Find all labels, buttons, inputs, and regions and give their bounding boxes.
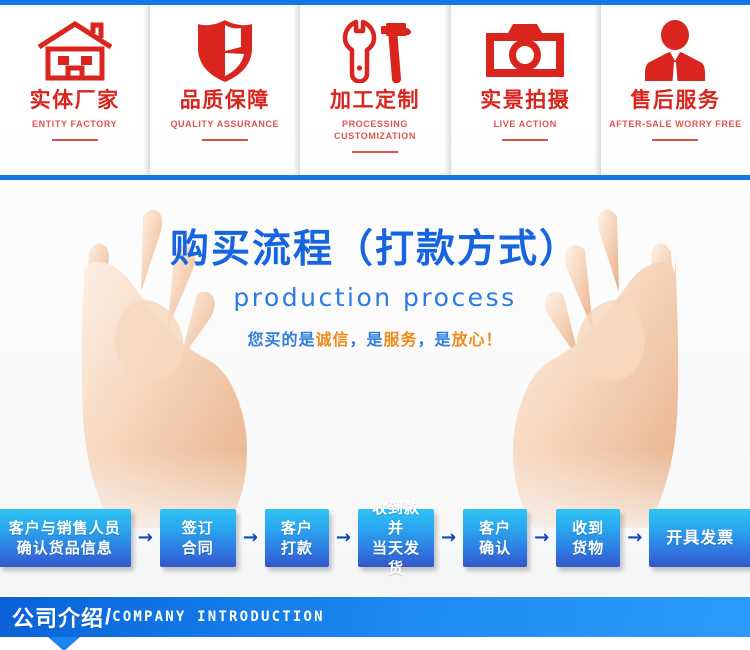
feature-card-processing-customization[interactable]: 加工定制 PROCESSING CUSTOMIZATION [300, 5, 450, 175]
feature-card-underline [352, 151, 398, 153]
flow-step-3[interactable]: 客户 打款 [265, 509, 329, 567]
feature-card-underline [202, 139, 248, 141]
camera-icon [451, 17, 600, 85]
hero-tagline-part: 诚信 [315, 330, 349, 349]
section-title-separator: / [105, 604, 111, 630]
hero-english-subtitle: production process [0, 283, 750, 312]
hero-tagline-part: ，是 [418, 330, 452, 349]
flow-step-5[interactable]: 客户 确认 [463, 509, 527, 567]
feature-card-underline [652, 139, 698, 141]
section-bar-pointer-icon [48, 637, 80, 650]
feature-card-subtitle: LIVE ACTION [494, 118, 557, 130]
section-title-cn: 公司介绍 [12, 601, 104, 633]
feature-card-title: 售后服务 [630, 89, 720, 111]
feature-card-title: 实体厂家 [30, 89, 120, 111]
flow-step-7[interactable]: 开具发票 [649, 509, 750, 567]
agent-icon [601, 17, 750, 85]
feature-banner: 实体厂家 ENTITY FACTORY 品质保障 QUALITY ASSURAN… [0, 5, 750, 175]
flow-arrow-icon: → [131, 529, 160, 547]
shield-icon [150, 17, 299, 85]
flow-step-1[interactable]: 客户与销售人员 确认货品信息 [0, 509, 131, 567]
feature-card-title: 实景拍摄 [480, 89, 570, 111]
flow-step-6[interactable]: 收到 货物 [556, 509, 620, 567]
hero-tagline-part: ，是 [349, 330, 383, 349]
hero-tagline-part: 您买的是 [247, 330, 315, 349]
purchase-process-hero: 购买流程（打款方式） production process 您买的是诚信，是服务… [0, 180, 750, 595]
hero-tagline-part: 放心 [452, 330, 486, 349]
feature-card-after-sale[interactable]: 售后服务 AFTER-SALE WORRY FREE [601, 5, 750, 175]
hero-title: 购买流程（打款方式） [0, 228, 750, 273]
feature-card-title: 加工定制 [330, 89, 420, 111]
house-icon [0, 17, 149, 85]
flow-arrow-icon: → [329, 529, 358, 547]
hero-tagline-part: ！ [486, 330, 503, 349]
feature-card-subtitle: ENTITY FACTORY [32, 118, 117, 130]
feature-card-quality-assurance[interactable]: 品质保障 QUALITY ASSURANCE [150, 5, 300, 175]
feature-card-entity-factory[interactable]: 实体厂家 ENTITY FACTORY [0, 5, 150, 175]
flow-arrow-icon: → [434, 529, 463, 547]
tools-icon [300, 17, 449, 85]
hero-tagline: 您买的是诚信，是服务，是放心！ [0, 326, 750, 350]
flow-arrow-icon: → [236, 529, 265, 547]
hero-tagline-part: 服务 [383, 330, 417, 349]
flow-step-2[interactable]: 签订 合同 [160, 509, 236, 567]
process-flow: 客户与销售人员 确认货品信息 → 签订 合同 → 客户 打款 → 收到款并 当天… [0, 509, 750, 567]
hero-text-block: 购买流程（打款方式） production process 您买的是诚信，是服务… [0, 228, 750, 350]
company-introduction-bar[interactable]: 公司介绍 / COMPANY INTRODUCTION [0, 597, 750, 637]
feature-card-title: 品质保障 [180, 89, 270, 111]
page-root: 实体厂家 ENTITY FACTORY 品质保障 QUALITY ASSURAN… [0, 0, 750, 650]
section-bar-bottom-fill [0, 637, 750, 650]
flow-arrow-icon: → [527, 529, 556, 547]
feature-card-underline [52, 139, 98, 141]
flow-arrow-icon: → [620, 529, 649, 547]
feature-card-subtitle: PROCESSING CUSTOMIZATION [334, 118, 416, 142]
feature-card-subtitle: AFTER-SALE WORRY FREE [609, 118, 742, 130]
feature-card-subtitle: QUALITY ASSURANCE [170, 118, 279, 130]
section-title-en: COMPANY INTRODUCTION [112, 609, 325, 625]
flow-step-4[interactable]: 收到款并 当天发货 [358, 509, 434, 567]
feature-card-live-action[interactable]: 实景拍摄 LIVE ACTION [451, 5, 601, 175]
feature-card-underline [502, 139, 548, 141]
